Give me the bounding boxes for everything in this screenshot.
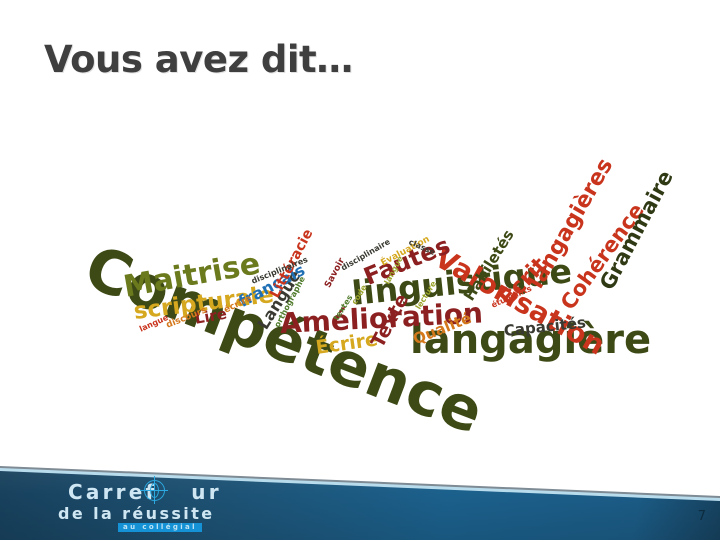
page-number: 7 bbox=[698, 509, 706, 524]
word-cloud-term: Savoir bbox=[324, 257, 347, 290]
slide-canvas: Vous avez dit… Compétencelangagièrelingu… bbox=[0, 0, 720, 540]
page-title: Vous avez dit… bbox=[44, 38, 353, 81]
word-cloud: CompétencelangagièrelinguistiqueMaitrise… bbox=[80, 180, 660, 380]
footer-banner: Carrefoour de la réussite au collégial 7 bbox=[0, 440, 720, 540]
logo-tagline: au collégial bbox=[118, 523, 202, 532]
globe-meridian-icon bbox=[150, 483, 159, 498]
carrefour-logo: Carrefoour de la réussite au collégial bbox=[58, 480, 248, 536]
logo-line-2: de la réussite bbox=[58, 504, 215, 523]
globe-crosshair-icon bbox=[144, 480, 165, 501]
logo-line-1-tail: ur bbox=[191, 480, 222, 504]
